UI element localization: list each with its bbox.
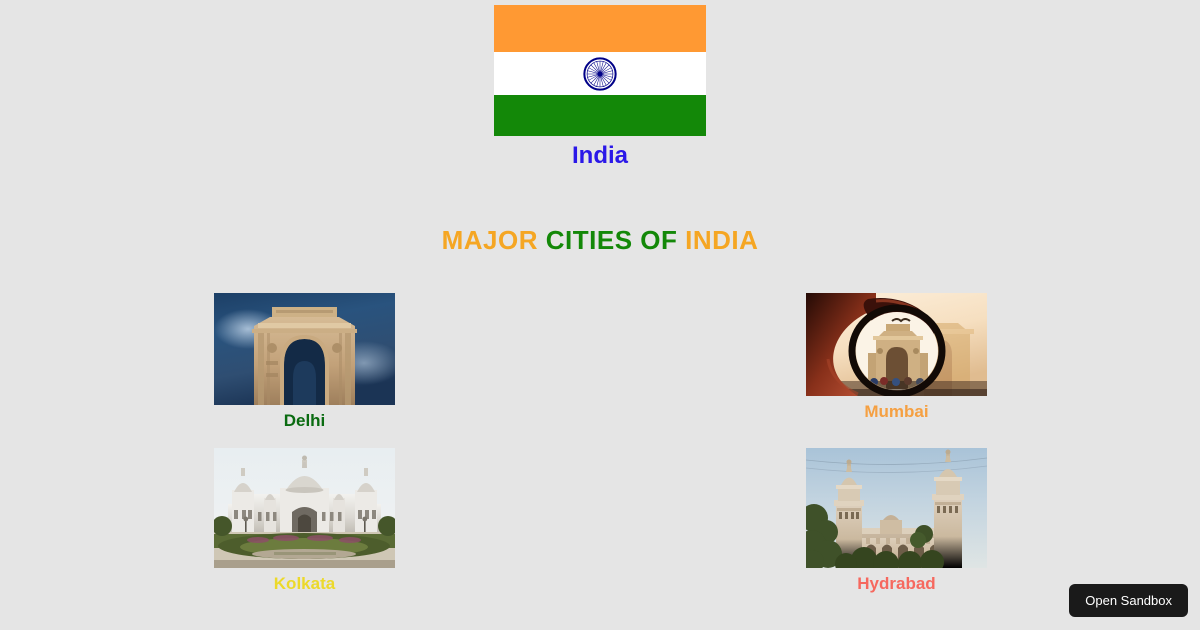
city-label-mumbai: Mumbai [806, 402, 987, 422]
ashoka-chakra-icon [583, 57, 617, 91]
city-label-hydrabad: Hydrabad [806, 574, 987, 594]
page-title: MAJOR CITIES OF INDIA [0, 225, 1200, 256]
title-part-india: INDIA [685, 225, 758, 255]
open-sandbox-button[interactable]: Open Sandbox [1069, 584, 1188, 617]
city-label-kolkata: Kolkata [214, 574, 395, 594]
city-card-delhi[interactable]: Delhi [214, 293, 395, 431]
flag-band-saffron [494, 5, 706, 52]
city-photo-hydrabad [806, 448, 987, 568]
city-photo-delhi [214, 293, 395, 405]
city-card-kolkata[interactable]: Kolkata [214, 448, 395, 594]
city-photo-kolkata [214, 448, 395, 568]
flag-band-white [494, 52, 706, 95]
india-flag-block: India [494, 5, 706, 170]
city-photo-mumbai [806, 293, 987, 396]
city-card-hydrabad[interactable]: Hydrabad [806, 448, 987, 594]
title-part-cities: CITIES OF [546, 225, 678, 255]
city-label-delhi: Delhi [214, 411, 395, 431]
country-name: India [494, 142, 706, 170]
city-card-mumbai[interactable]: Mumbai [806, 293, 987, 422]
flag-band-green [494, 95, 706, 136]
india-flag [494, 5, 706, 136]
title-part-major: MAJOR [442, 225, 538, 255]
